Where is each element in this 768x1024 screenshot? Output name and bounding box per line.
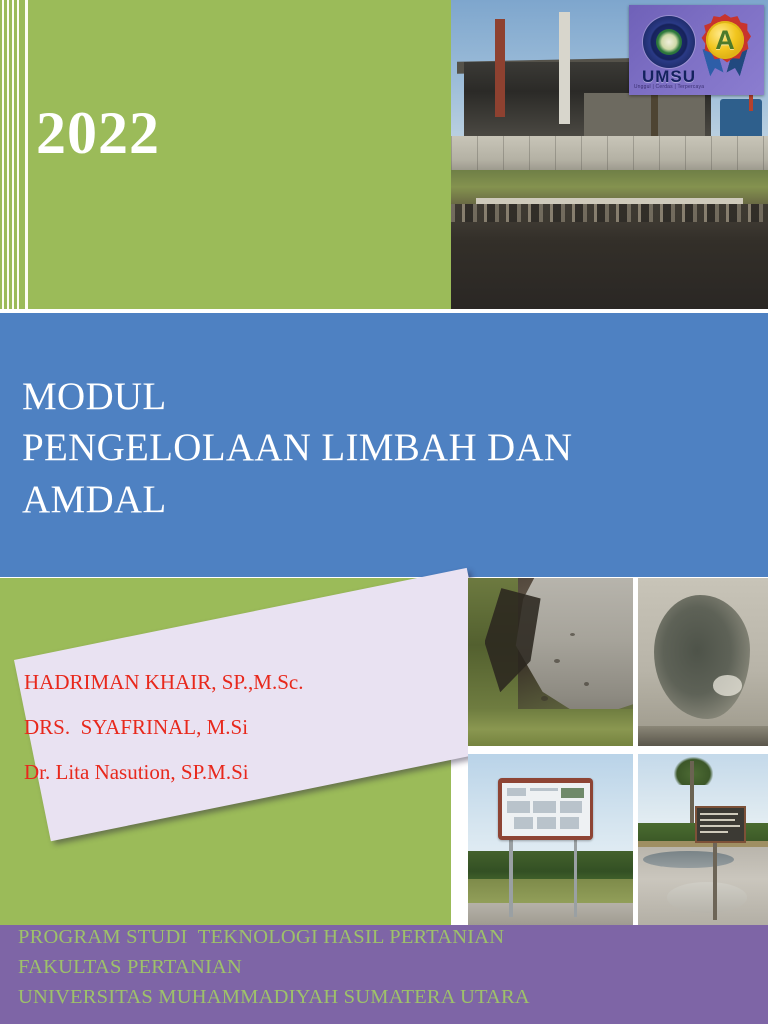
title-line: PENGELOLAAN LIMBAH DAN xyxy=(22,422,722,473)
institution-lines: PROGRAM STUDI TEKNOLOGI HASIL PERTANIAN … xyxy=(18,922,748,1012)
umsu-tagline: Unggul | Cerdas | Terpercaya xyxy=(633,84,705,90)
photo-roadside-warning-sign xyxy=(638,754,768,927)
umsu-seal-center xyxy=(656,29,682,55)
author-name: Dr. Lita Nasution, SP.M.Si xyxy=(24,762,444,783)
author-name: HADRIMAN KHAIR, SP.,M.Sc. xyxy=(24,672,444,693)
author-name: DRS. SYAFRINAL, M.Si xyxy=(24,717,444,738)
cover-title: MODUL PENGELOLAAN LIMBAH DAN AMDAL xyxy=(22,371,722,525)
accreditation-grade: A xyxy=(706,21,744,59)
accreditation-badge-icon: A xyxy=(696,13,754,71)
institution-line: PROGRAM STUDI TEKNOLOGI HASIL PERTANIAN xyxy=(18,922,748,952)
umsu-logo-plate: UMSU Unggul | Cerdas | Terpercaya A xyxy=(629,5,764,95)
top-green-panel: 2022 xyxy=(0,0,451,309)
title-line: AMDAL xyxy=(22,474,722,525)
umsu-seal-icon xyxy=(643,16,695,68)
institution-line: UNIVERSITAS MUHAMMADIYAH SUMATERA UTARA xyxy=(18,982,748,1012)
photo-smokestack-white xyxy=(559,12,570,123)
photo-boundary-wall xyxy=(451,136,768,170)
photo-smokestack-red xyxy=(495,19,505,118)
decorative-stripes xyxy=(0,0,31,309)
institution-footer: PROGRAM STUDI TEKNOLOGI HASIL PERTANIAN … xyxy=(0,925,768,1024)
title-band: MODUL PENGELOLAAN LIMBAH DAN AMDAL xyxy=(0,313,768,577)
photo-waste-lagoon xyxy=(638,578,768,746)
photo-secondary-building xyxy=(584,93,704,136)
document-cover-page: 2022 UMS xyxy=(0,0,768,1024)
photo-grid xyxy=(468,578,768,927)
photo-rubble-line xyxy=(451,204,768,223)
factory-photo: UMSU Unggul | Cerdas | Terpercaya A xyxy=(451,0,768,309)
cover-year: 2022 xyxy=(36,103,160,163)
author-list: HADRIMAN KHAIR, SP.,M.Sc. DRS. SYAFRINAL… xyxy=(24,672,444,807)
photo-storage-tank xyxy=(720,99,761,136)
institution-line: FAKULTAS PERTANIAN xyxy=(18,952,748,982)
photo-information-signboard xyxy=(468,754,633,927)
photo-ash-heap xyxy=(468,578,633,746)
title-line: MODUL xyxy=(22,371,722,422)
